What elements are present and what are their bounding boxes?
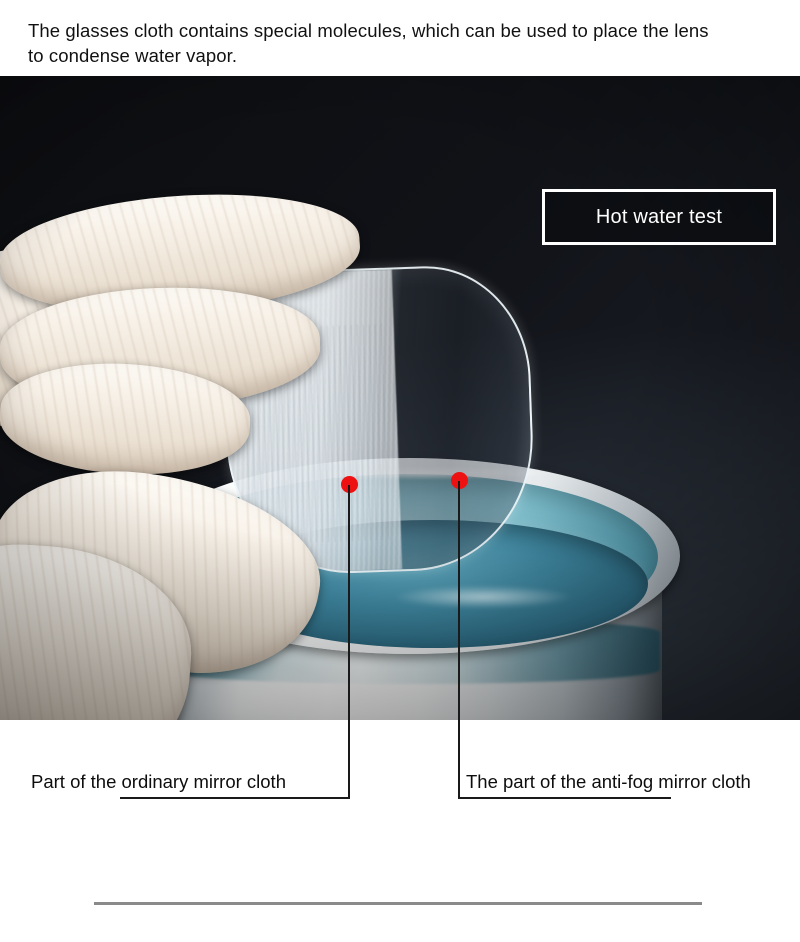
hot-water-test-label: Hot water test [596,206,722,229]
caption-ordinary-cloth-rule [120,797,350,799]
hot-water-test-badge: Hot water test [542,189,776,245]
anti-fog-cloth-leader-line [458,481,460,799]
water-highlight [368,582,598,612]
caption-anti-fog-cloth-rule [459,797,671,799]
caption-ordinary-cloth: Part of the ordinary mirror cloth [31,771,286,793]
ordinary-cloth-leader-line [348,485,350,799]
footer-divider [94,902,702,905]
caption-anti-fog-cloth: The part of the anti-fog mirror cloth [466,771,751,793]
headline-text: The glasses cloth contains special molec… [28,18,728,68]
promo-image: The glasses cloth contains special molec… [0,0,800,942]
product-photo: Hot water test [0,76,800,720]
